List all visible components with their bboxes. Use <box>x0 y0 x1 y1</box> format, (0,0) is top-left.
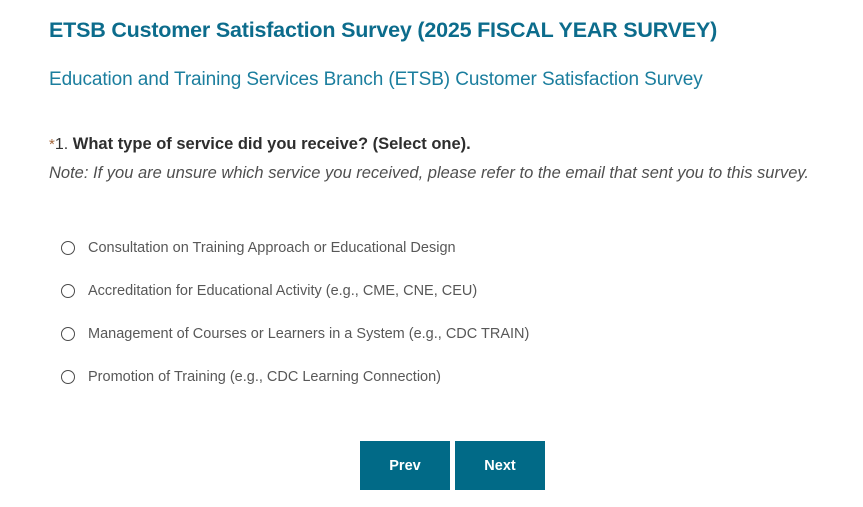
survey-title: ETSB Customer Satisfaction Survey (2025 … <box>49 17 839 44</box>
radio-icon[interactable] <box>61 284 75 298</box>
radio-icon[interactable] <box>61 327 75 341</box>
question-number: 1. <box>55 136 68 153</box>
question-text: What type of service did you receive? (S… <box>73 135 471 153</box>
survey-page: ETSB Customer Satisfaction Survey (2025 … <box>0 0 863 507</box>
option-row-consultation[interactable]: Consultation on Training Approach or Edu… <box>61 238 761 258</box>
option-label: Management of Courses or Learners in a S… <box>88 325 529 343</box>
next-button[interactable]: Next <box>455 441 545 490</box>
radio-icon[interactable] <box>61 241 75 255</box>
survey-subtitle: Education and Training Services Branch (… <box>49 67 839 92</box>
prev-button[interactable]: Prev <box>360 441 450 490</box>
radio-icon[interactable] <box>61 370 75 384</box>
option-label: Promotion of Training (e.g., CDC Learnin… <box>88 368 441 386</box>
question-headline: *1. What type of service did you receive… <box>49 133 849 156</box>
navigation-buttons: Prev Next <box>360 441 545 490</box>
option-row-promotion[interactable]: Promotion of Training (e.g., CDC Learnin… <box>61 367 761 387</box>
options-list: Consultation on Training Approach or Edu… <box>61 238 761 387</box>
option-row-accreditation[interactable]: Accreditation for Educational Activity (… <box>61 281 761 301</box>
option-label: Consultation on Training Approach or Edu… <box>88 239 456 257</box>
question-block: *1. What type of service did you receive… <box>49 133 849 186</box>
question-note: Note: If you are unsure which service yo… <box>49 160 839 186</box>
option-row-management[interactable]: Management of Courses or Learners in a S… <box>61 324 761 344</box>
option-label: Accreditation for Educational Activity (… <box>88 282 477 300</box>
